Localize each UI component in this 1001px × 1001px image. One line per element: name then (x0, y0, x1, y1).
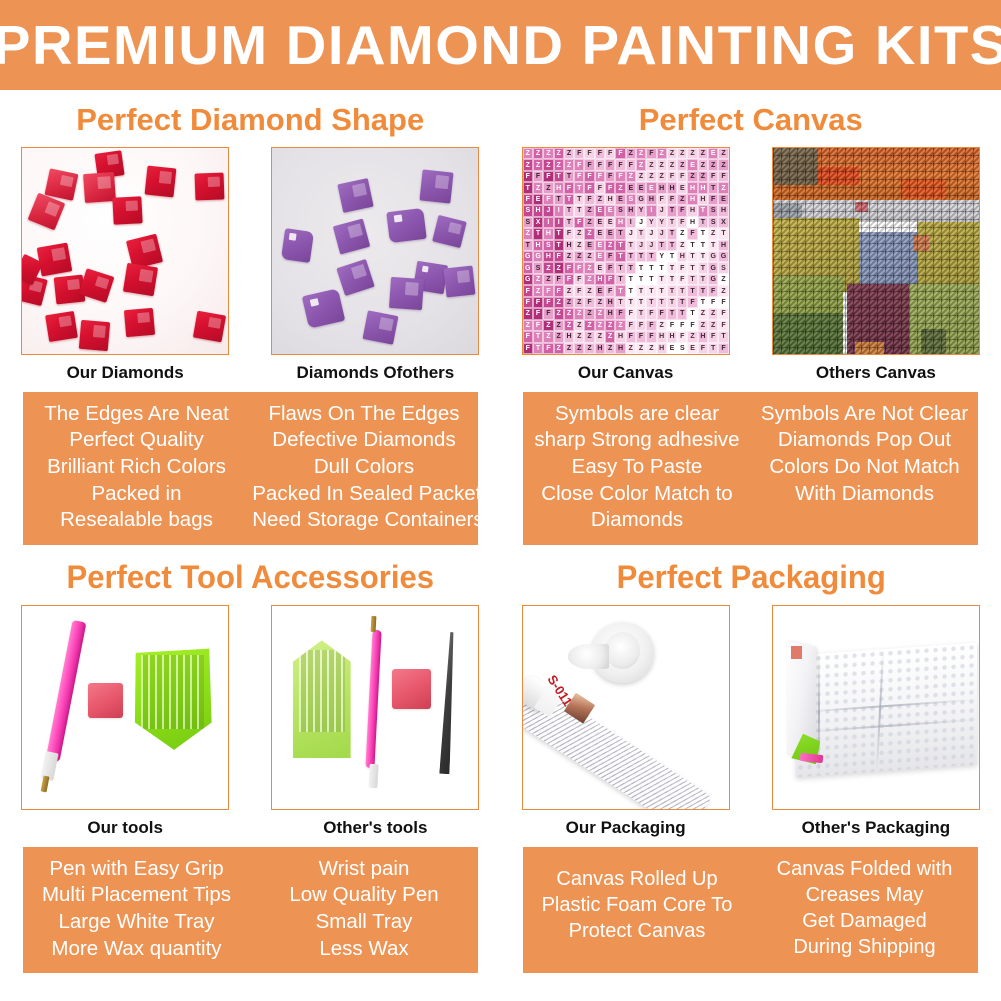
canvas-cell: Z (657, 159, 667, 170)
canvas-cell: Z (698, 320, 708, 331)
canvas-cell: T (667, 262, 677, 273)
canvas-cell: F (677, 171, 687, 182)
photo-other-tools (271, 605, 479, 810)
canvas-cell: H (646, 194, 656, 205)
canvas-cell: G (523, 251, 533, 262)
photo-cell-our-canvas: ZZZZZFFFFFZZFZZZZZEZZZZZZFFFFFFZZZZZEZZZ… (501, 147, 751, 355)
panel-theirs-canvas: Symbols Are Not Clear Diamonds Pop Out C… (751, 392, 979, 545)
canvas-cell: F (584, 297, 594, 308)
panel-line: The Edges Are Neat (25, 401, 249, 428)
canvas-cell: T (615, 251, 625, 262)
canvas-cell: Z (523, 228, 533, 239)
photo-cell-our-tools (0, 605, 250, 810)
tray-grooves (299, 650, 345, 732)
comparison-panel-tools: Pen with Easy Grip Multi Placement Tips … (23, 847, 478, 974)
canvas-cell: Z (718, 285, 728, 296)
canvas-cell: F (564, 262, 574, 273)
canvas-cell: Z (657, 171, 667, 182)
canvas-cell: Z (646, 159, 656, 170)
canvas-cell: Z (564, 148, 574, 159)
canvas-cell: H (687, 217, 697, 228)
captions-row-2: Our tools Other's tools Our Packaging Ot… (0, 810, 1001, 847)
canvas-cell: F (574, 159, 584, 170)
canvas-cell: Z (584, 228, 594, 239)
canvas-cell: Z (564, 308, 574, 319)
photo-cell-other-packaging (751, 605, 1001, 810)
canvas-cell: F (708, 285, 718, 296)
diamond-drill (83, 172, 116, 203)
canvas-cell: E (595, 217, 605, 228)
captions-row-1: Our Diamonds Diamonds Ofothers Our Canva… (0, 355, 1001, 392)
diamond-drill (112, 197, 142, 225)
canvas-cell: Z (574, 343, 584, 354)
canvas-cell: E (687, 343, 697, 354)
canvas-cell: T (657, 262, 667, 273)
canvas-cell: Z (584, 285, 594, 296)
canvas-cell: T (657, 240, 667, 251)
canvas-cell: S (677, 343, 687, 354)
canvas-cell: S (543, 240, 553, 251)
canvas-cell: E (605, 217, 615, 228)
canvas-cell: Z (677, 194, 687, 205)
canvas-cell: S (533, 262, 543, 273)
canvas-cell: Z (554, 308, 564, 319)
canvas-cell: F (636, 331, 646, 342)
panel-ours-tools: Pen with Easy Grip Multi Placement Tips … (23, 847, 251, 974)
canvas-cell: Z (543, 320, 553, 331)
canvas-cell: X (533, 217, 543, 228)
canvas-cell: J (646, 240, 656, 251)
photo-cell-other-diamonds (250, 147, 500, 355)
section-heading-canvas: Perfect Canvas (501, 90, 1001, 147)
caption-our-canvas: Our Canvas (501, 355, 751, 392)
canvas-cell: F (574, 148, 584, 159)
canvas-cell: F (605, 171, 615, 182)
photo-other-packaging (772, 605, 980, 810)
canvas-cell: H (605, 194, 615, 205)
canvas-cell: I (554, 217, 564, 228)
panel-line: Canvas Rolled Up (525, 866, 749, 892)
canvas-cell: F (677, 331, 687, 342)
canvas-cell: T (574, 194, 584, 205)
canvas-cell: H (605, 308, 615, 319)
canvas-cell: F (574, 217, 584, 228)
canvas-cell: Z (595, 331, 605, 342)
photo-cell-other-tools (250, 605, 500, 810)
canvas-cell: T (698, 285, 708, 296)
canvas-cell: E (595, 251, 605, 262)
canvas-cell: F (646, 331, 656, 342)
canvas-cell: F (677, 320, 687, 331)
canvas-cell: Z (718, 148, 728, 159)
photo-our-packaging: S-011 (522, 605, 730, 810)
panel-line: Symbols are clear (525, 401, 749, 428)
canvas-cell: T (636, 285, 646, 296)
canvas-cell: Z (564, 285, 574, 296)
canvas-cell: T (564, 194, 574, 205)
canvas-cell: T (667, 228, 677, 239)
canvas-cell: G (533, 251, 543, 262)
canvas-cell: H (718, 240, 728, 251)
canvas-cell: T (564, 205, 574, 216)
canvas-cell: Z (646, 343, 656, 354)
canvas-cell: Z (626, 148, 636, 159)
canvas-cell: Z (533, 285, 543, 296)
canvas-cell: F (605, 285, 615, 296)
canvas-cell: Z (626, 343, 636, 354)
canvas-cell: E (667, 343, 677, 354)
panel-line: sharp Strong adhesive (525, 427, 749, 454)
panel-line: Get Damaged (753, 908, 977, 934)
canvas-cell: T (646, 262, 656, 273)
canvas-cell: Z (708, 159, 718, 170)
canvas-cell: T (657, 274, 667, 285)
canvas-cell: F (615, 148, 625, 159)
canvas-cell: Z (554, 159, 564, 170)
canvas-cell: E (687, 159, 697, 170)
comparison-panel-packaging: Canvas Rolled Up Plastic Foam Core To Pr… (523, 847, 978, 974)
canvas-cell: F (667, 320, 677, 331)
canvas-cell: F (543, 308, 553, 319)
canvas-cell: Z (708, 308, 718, 319)
panel-line: Defective Diamonds (252, 427, 476, 454)
canvas-cell: Z (687, 171, 697, 182)
wax-square (392, 669, 431, 710)
canvas-cell: T (626, 251, 636, 262)
canvas-cell: F (605, 274, 615, 285)
canvas-cell: T (636, 262, 646, 273)
canvas-cell: H (657, 182, 667, 193)
canvas-cell: H (698, 331, 708, 342)
canvas-cell: Z (646, 171, 656, 182)
canvas-cell: F (554, 285, 564, 296)
canvas-cell: J (626, 228, 636, 239)
diamond-drill (363, 310, 399, 344)
canvas-cell: T (677, 297, 687, 308)
canvas-cell: F (574, 285, 584, 296)
canvas-cell: Z (584, 331, 594, 342)
canvas-cell: T (687, 274, 697, 285)
canvas-cell: F (605, 182, 615, 193)
canvas-cell: H (564, 240, 574, 251)
canvas-cell: E (595, 285, 605, 296)
caption-other-diamonds: Diamonds Ofothers (250, 355, 500, 392)
canvas-cell: F (574, 262, 584, 273)
canvas-cell: F (564, 228, 574, 239)
canvas-cell: E (533, 194, 543, 205)
canvas-cell: F (708, 194, 718, 205)
canvas-cell: T (657, 285, 667, 296)
canvas-cell: J (636, 217, 646, 228)
headings-row-2: Perfect Tool Accessories Perfect Packagi… (0, 545, 1001, 605)
canvas-cell: T (667, 274, 677, 285)
canvas-cell: T (698, 297, 708, 308)
panel-ours-diamond-shape: The Edges Are Neat Perfect Quality Brill… (23, 392, 251, 545)
panel-line: Plastic Foam Core To (525, 892, 749, 918)
infographic-page: PREMIUM DIAMOND PAINTING KITS Perfect Di… (0, 0, 1001, 1001)
canvas-cell: F (533, 308, 543, 319)
canvas-cell: Z (667, 159, 677, 170)
canvas-cell: F (698, 343, 708, 354)
canvas-cell: F (718, 297, 728, 308)
canvas-cell: S (718, 262, 728, 273)
canvas-cell: G (636, 194, 646, 205)
panel-ours-packaging: Canvas Rolled Up Plastic Foam Core To Pr… (523, 847, 751, 974)
canvas-cell: S (523, 205, 533, 216)
canvas-cell: F (615, 171, 625, 182)
canvas-cell: F (543, 171, 553, 182)
canvas-cell: Z (595, 194, 605, 205)
canvas-cell: H (595, 274, 605, 285)
canvas-cell: F (523, 331, 533, 342)
canvas-cell: Z (533, 148, 543, 159)
canvas-cell: Z (554, 297, 564, 308)
photo-cell-our-packaging: S-011 (501, 605, 751, 810)
diamond-drill (144, 165, 176, 197)
canvas-cell: H (698, 194, 708, 205)
panel-line: Wrist pain (252, 856, 476, 883)
canvas-cell: T (523, 240, 533, 251)
canvas-cell: F (708, 297, 718, 308)
canvas-cell: Z (636, 171, 646, 182)
canvas-cell: Z (554, 331, 564, 342)
canvas-cell: T (698, 240, 708, 251)
comparison-panel-canvas: Symbols are clear sharp Strong adhesive … (523, 392, 978, 545)
canvas-cell: F (708, 171, 718, 182)
canvas-cell: F (584, 159, 594, 170)
canvas-cell: T (657, 297, 667, 308)
photos-row-1: ZZZZZFFFFFZZFZZZZZEZZZZZZFFFFFFZZZZZEZZZ… (0, 147, 1001, 355)
canvas-cell: F (595, 159, 605, 170)
canvas-cell: E (677, 182, 687, 193)
canvas-cell: F (554, 251, 564, 262)
canvas-cell: T (636, 297, 646, 308)
canvas-cell: E (626, 182, 636, 193)
canvas-cell: E (615, 194, 625, 205)
canvas-cell: Z (543, 262, 553, 273)
canvas-cell: Z (523, 308, 533, 319)
canvas-cell: G (523, 274, 533, 285)
canvas-cell: F (687, 228, 697, 239)
canvas-cell: F (584, 194, 594, 205)
canvas-cell: F (657, 308, 667, 319)
canvas-cell: H (677, 251, 687, 262)
canvas-cell: H (554, 182, 564, 193)
canvas-cell: Z (605, 320, 615, 331)
canvas-cell: Z (574, 320, 584, 331)
canvas-cell: T (698, 205, 708, 216)
canvas-cell: Z (543, 331, 553, 342)
panel-line: Flaws On The Edges (252, 401, 476, 428)
canvas-cell: T (533, 343, 543, 354)
canvas-cell: F (564, 182, 574, 193)
canvas-cell: Z (574, 297, 584, 308)
canvas-cell: T (574, 205, 584, 216)
canvas-cell: T (698, 217, 708, 228)
panel-line: Close Color Match to (525, 481, 749, 508)
panel-line: More Wax quantity (25, 936, 249, 963)
canvas-cell: E (605, 228, 615, 239)
canvas-cell: T (626, 274, 636, 285)
canvas-cell: H (543, 251, 553, 262)
canvas-cell: T (554, 194, 564, 205)
diamond-drill (419, 169, 453, 203)
canvas-cell: S (708, 205, 718, 216)
canvas-cell: T (646, 274, 656, 285)
canvas-cell: Z (677, 148, 687, 159)
photo-other-diamonds (271, 147, 479, 355)
canvas-cell: H (615, 343, 625, 354)
canvas-cell: Z (667, 148, 677, 159)
canvas-cell: Z (605, 240, 615, 251)
diamond-drill (123, 263, 158, 296)
canvas-cell: Z (595, 308, 605, 319)
canvas-cell: T (615, 262, 625, 273)
canvas-cell: F (523, 343, 533, 354)
canvas-cell: E (636, 182, 646, 193)
canvas-cell: H (687, 205, 697, 216)
canvas-cell: T (564, 217, 574, 228)
comparison-panel-diamond-shape: The Edges Are Neat Perfect Quality Brill… (23, 392, 478, 545)
tray-grooves (141, 655, 204, 729)
canvas-cell: Z (584, 251, 594, 262)
diamond-drill (44, 168, 78, 200)
canvas-cell: Z (574, 331, 584, 342)
canvas-cell: T (667, 285, 677, 296)
canvas-cell: Z (523, 320, 533, 331)
photo-our-tools (21, 605, 229, 810)
canvas-cell: F (615, 159, 625, 170)
canvas-cell: T (687, 251, 697, 262)
canvas-cell: T (708, 240, 718, 251)
canvas-cell: Z (677, 228, 687, 239)
canvas-cell: E (595, 240, 605, 251)
canvas-cell: Z (636, 159, 646, 170)
canvas-cell: H (657, 343, 667, 354)
canvas-cell: F (626, 320, 636, 331)
canvas-cell: F (718, 320, 728, 331)
canvas-cell: Z (554, 148, 564, 159)
canvas-cell: H (626, 205, 636, 216)
canvas-cell: F (636, 320, 646, 331)
canvas-cell: Z (718, 159, 728, 170)
canvas-cell: T (667, 297, 677, 308)
canvas-cell: F (677, 274, 687, 285)
panel-line: Dull Colors (252, 454, 476, 481)
diamond-drill (193, 310, 226, 341)
canvas-cell: Z (574, 240, 584, 251)
canvas-cell: Z (718, 182, 728, 193)
caption-our-tools: Our tools (0, 810, 250, 847)
canvas-cell: E (595, 228, 605, 239)
canvas-cell: T (636, 251, 646, 262)
photo-cell-our-diamonds (0, 147, 250, 355)
canvas-cell: G (708, 262, 718, 273)
photo-other-canvas (772, 147, 980, 355)
canvas-cell: T (626, 285, 636, 296)
panel-line: Large White Tray (25, 909, 249, 936)
canvas-cell: T (626, 262, 636, 273)
canvas-cell: Y (657, 217, 667, 228)
canvas-cell: H (667, 182, 677, 193)
canvas-cell: E (595, 205, 605, 216)
canvas-cell: S (708, 217, 718, 228)
canvas-cell: Y (636, 205, 646, 216)
canvas-cell: Z (554, 320, 564, 331)
canvas-cell: Z (687, 331, 697, 342)
panel-line: Pen with Easy Grip (25, 856, 249, 883)
canvas-cell: T (687, 262, 697, 273)
canvas-cell: E (708, 148, 718, 159)
panel-theirs-tools: Wrist pain Low Quality Pen Small Tray Le… (250, 847, 478, 974)
canvas-cell: F (677, 217, 687, 228)
canvas-cell: T (554, 240, 564, 251)
panel-line: Creases May (753, 882, 977, 908)
canvas-cell: F (533, 297, 543, 308)
canvas-cell: F (554, 274, 564, 285)
canvas-cell: T (667, 205, 677, 216)
panel-line: Protect Canvas (525, 918, 749, 944)
canvas-cell: Z (533, 159, 543, 170)
canvas-cell: Z (677, 159, 687, 170)
canvas-cell: Z (677, 240, 687, 251)
canvas-cell: Z (657, 320, 667, 331)
canvas-cell: F (605, 159, 615, 170)
canvas-cell: Z (574, 251, 584, 262)
canvas-cell: Z (595, 297, 605, 308)
photo-our-canvas: ZZZZZFFFFFZZFZZZZZEZZZZZZFFFFFFZZZZZEZZZ… (522, 147, 730, 355)
panels-row-2: Pen with Easy Grip Multi Placement Tips … (0, 847, 1001, 974)
canvas-cell: Z (574, 308, 584, 319)
canvas-cell: Z (626, 171, 636, 182)
canvas-cell: T (698, 228, 708, 239)
canvas-cell: Z (718, 274, 728, 285)
canvas-cell: Z (543, 159, 553, 170)
canvas-cell: Z (615, 320, 625, 331)
canvas-cell: T (554, 171, 564, 182)
panel-line: Perfect Quality (25, 427, 249, 454)
canvas-cell: F (605, 262, 615, 273)
canvas-cell: Z (564, 320, 574, 331)
canvas-cell: Z (543, 274, 553, 285)
canvas-cell: E (646, 182, 656, 193)
canvas-cell: Z (636, 148, 646, 159)
panel-line: Small Tray (252, 909, 476, 936)
canvas-cell: I (543, 217, 553, 228)
canvas-cell: T (687, 308, 697, 319)
canvas-cell: Z (698, 148, 708, 159)
canvas-cell: F (564, 274, 574, 285)
diamond-drill (79, 320, 110, 351)
diamond-tray (293, 640, 351, 758)
canvas-cell: Z (584, 343, 594, 354)
canvas-cell: T (708, 343, 718, 354)
canvas-cell: F (687, 320, 697, 331)
canvas-cell: T (554, 228, 564, 239)
canvas-cell: H (657, 331, 667, 342)
canvas-cell: T (698, 251, 708, 262)
panel-line: Packed In Sealed Packets (252, 481, 476, 508)
canvas-cell: F (543, 285, 553, 296)
panel-ours-canvas: Symbols are clear sharp Strong adhesive … (523, 392, 751, 545)
canvas-cell: Z (687, 148, 697, 159)
canvas-cell: T (636, 228, 646, 239)
canvas-cell: X (718, 217, 728, 228)
canvas-cell: E (605, 205, 615, 216)
canvas-cell: F (667, 194, 677, 205)
canvas-cell: F (687, 297, 697, 308)
canvas-cell: T (626, 297, 636, 308)
